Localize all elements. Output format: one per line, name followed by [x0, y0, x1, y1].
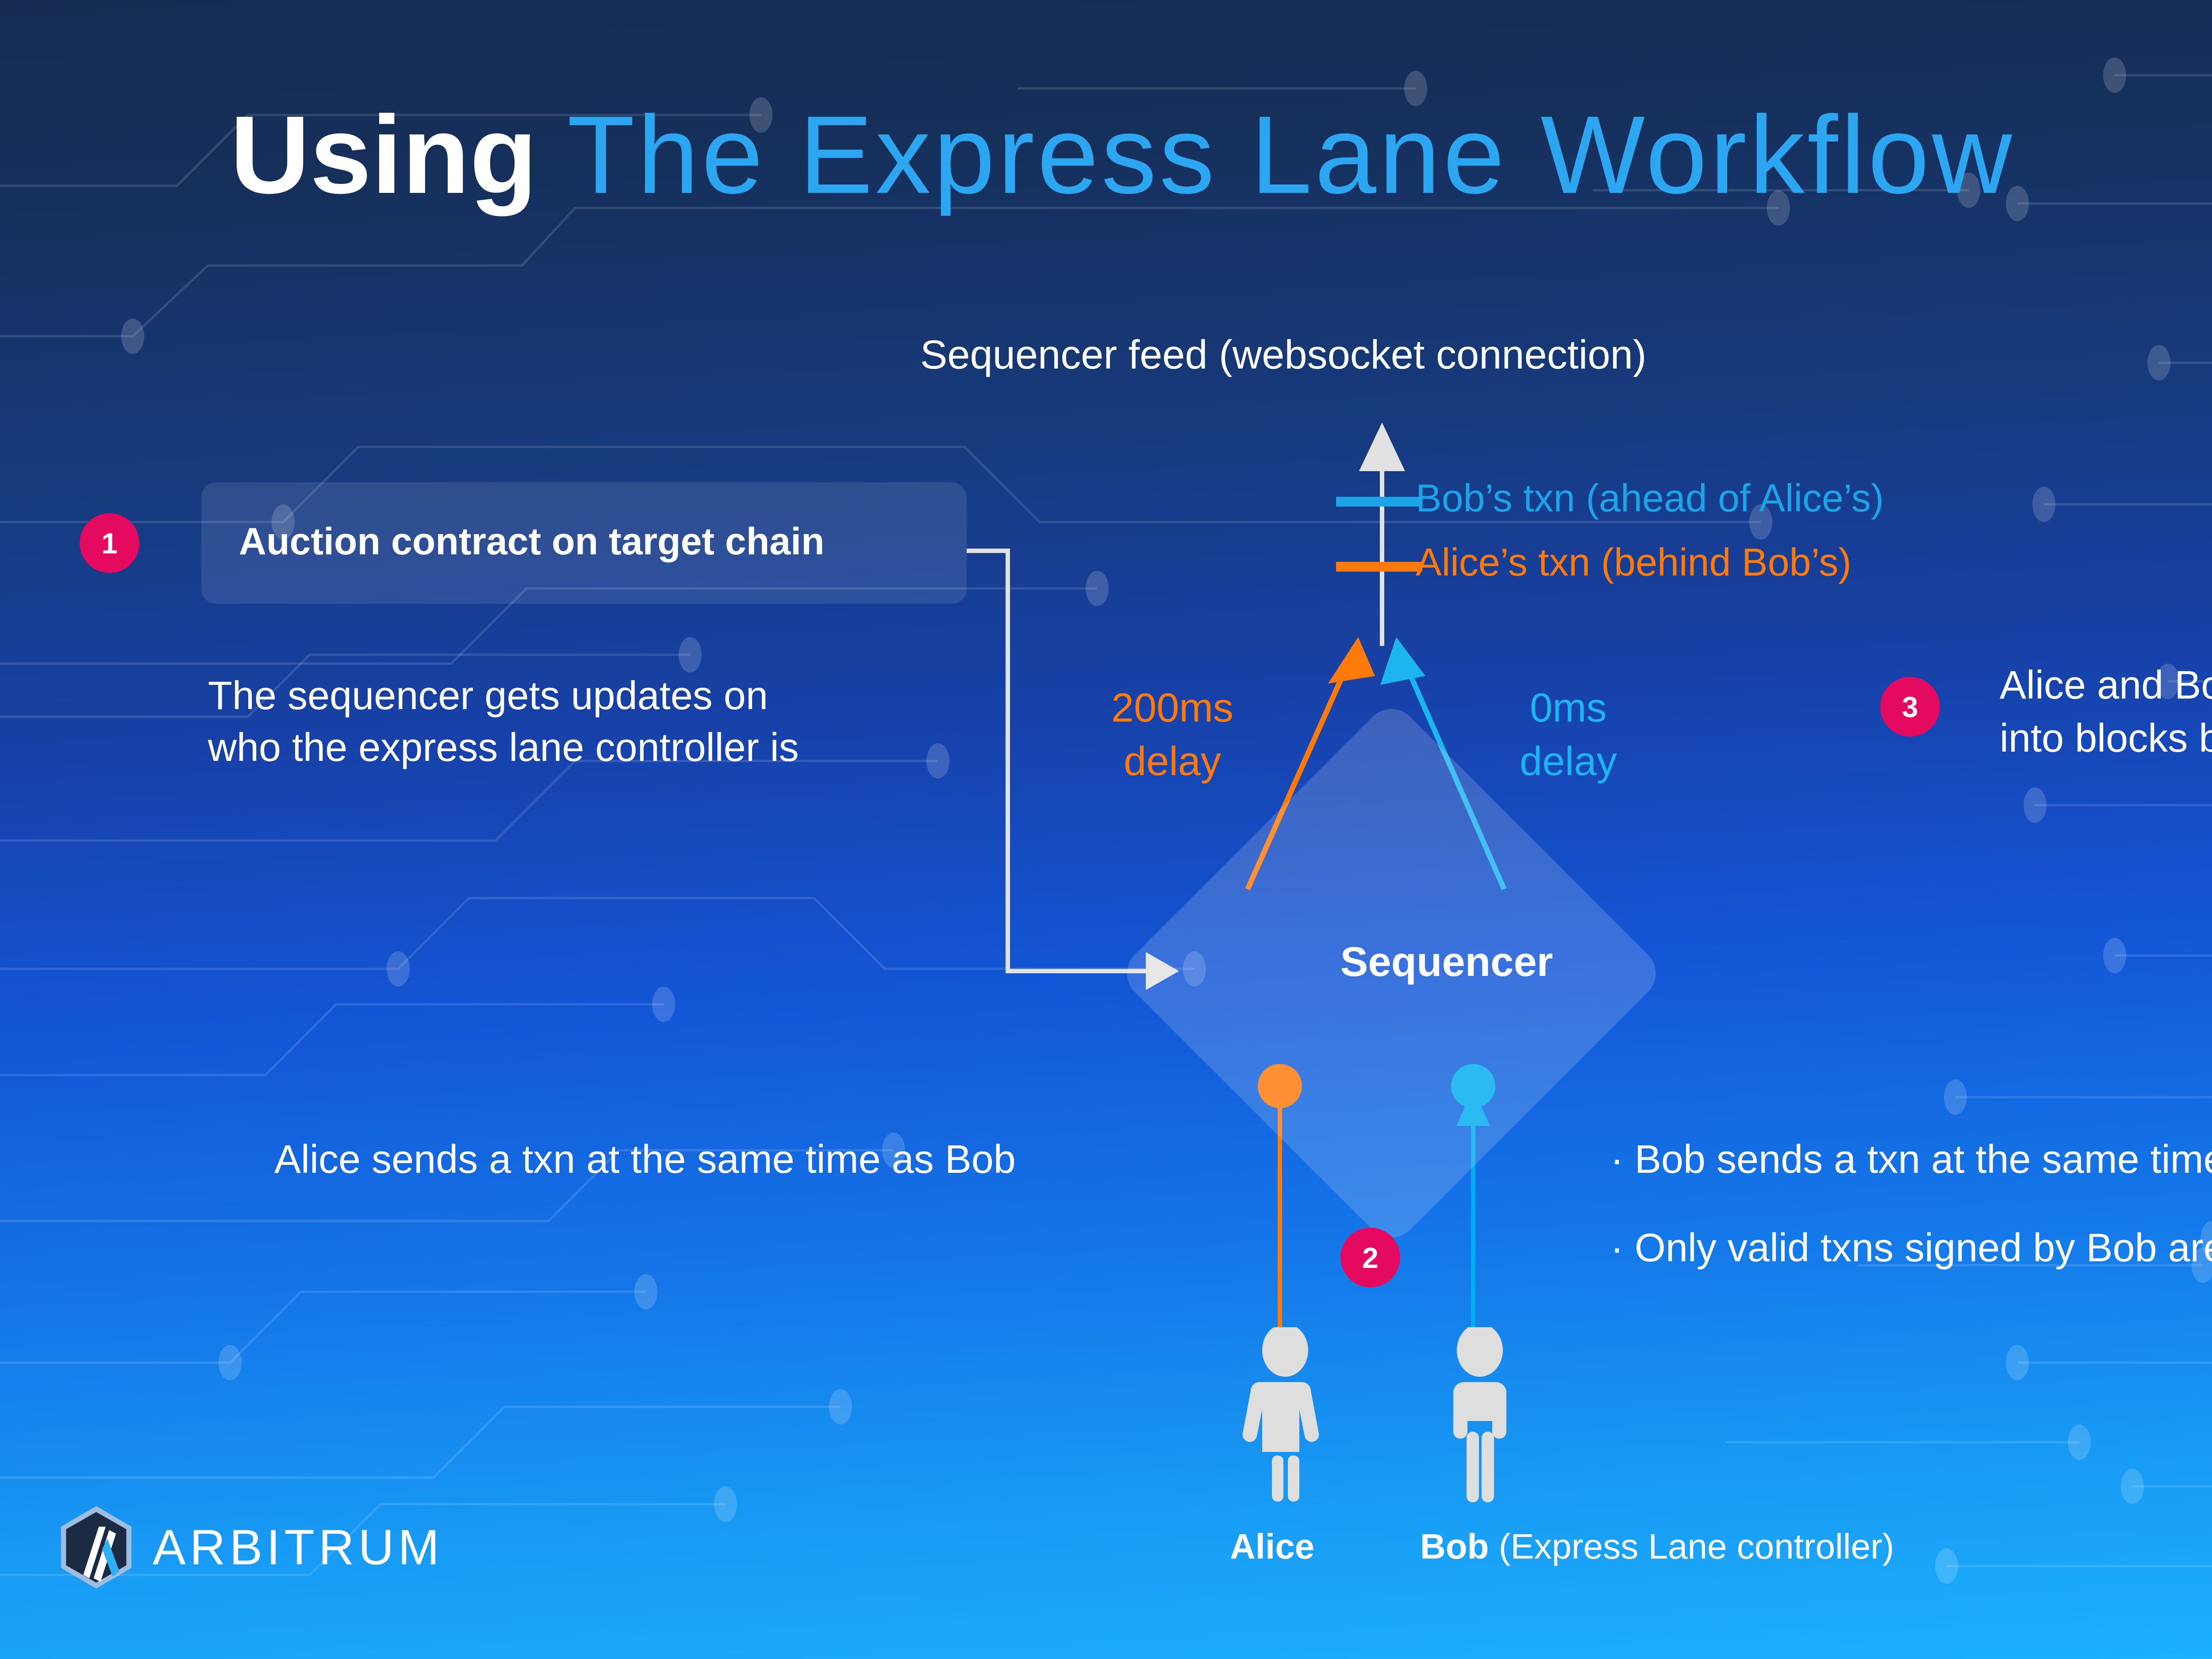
bob-role-note: (Express Lane controller) — [1489, 1527, 1894, 1566]
arbitrum-wordmark: ARBITRUM — [153, 1519, 443, 1576]
diagram-connectors — [0, 0, 2212, 1659]
bob-name: Bob — [1420, 1527, 1489, 1566]
bob-bullet-2: · Only valid txns signed by Bob are acce… — [1610, 1225, 2212, 1271]
step-2-badge: 2 — [1340, 1228, 1400, 1287]
arbitrum-mark-icon — [58, 1504, 135, 1590]
alice-figure — [1228, 1327, 1343, 1504]
legend-alice-txn: Alice’s txn (behind Bob’s) — [1416, 540, 1851, 585]
slide-canvas: Using The Express Lane Workflow Sequence… — [0, 0, 2212, 1659]
step-3-badge: 3 — [1880, 677, 1940, 737]
bob-bullet-1: · Bob sends a txn at the same time as Al… — [1610, 1137, 2212, 1183]
legend-bob-txn: Bob’s txn (ahead of Alice’s) — [1416, 476, 1884, 521]
sequencer-label: Sequencer — [1256, 938, 1637, 986]
sequencer-updates-text: The sequencer gets updates on who the ex… — [208, 670, 799, 774]
auction-contract-label: Auction contract on target chain — [239, 520, 825, 564]
bob-delay-label: 0ms delay — [1495, 681, 1641, 789]
alice-delay-label: 200ms delay — [1079, 681, 1265, 789]
step-3-text: Alice and Bob's txns get ordered into bl… — [2000, 659, 2212, 765]
arbitrum-logo: ARBITRUM — [58, 1504, 443, 1590]
bob-name-label: Bob (Express Lane controller) — [1420, 1526, 1894, 1567]
alice-name-label: Alice — [1230, 1526, 1314, 1567]
alice-send-text: Alice sends a txn at the same time as Bo… — [274, 1137, 1016, 1183]
step-1-badge: 1 — [80, 513, 139, 573]
bob-figure — [1422, 1327, 1537, 1504]
